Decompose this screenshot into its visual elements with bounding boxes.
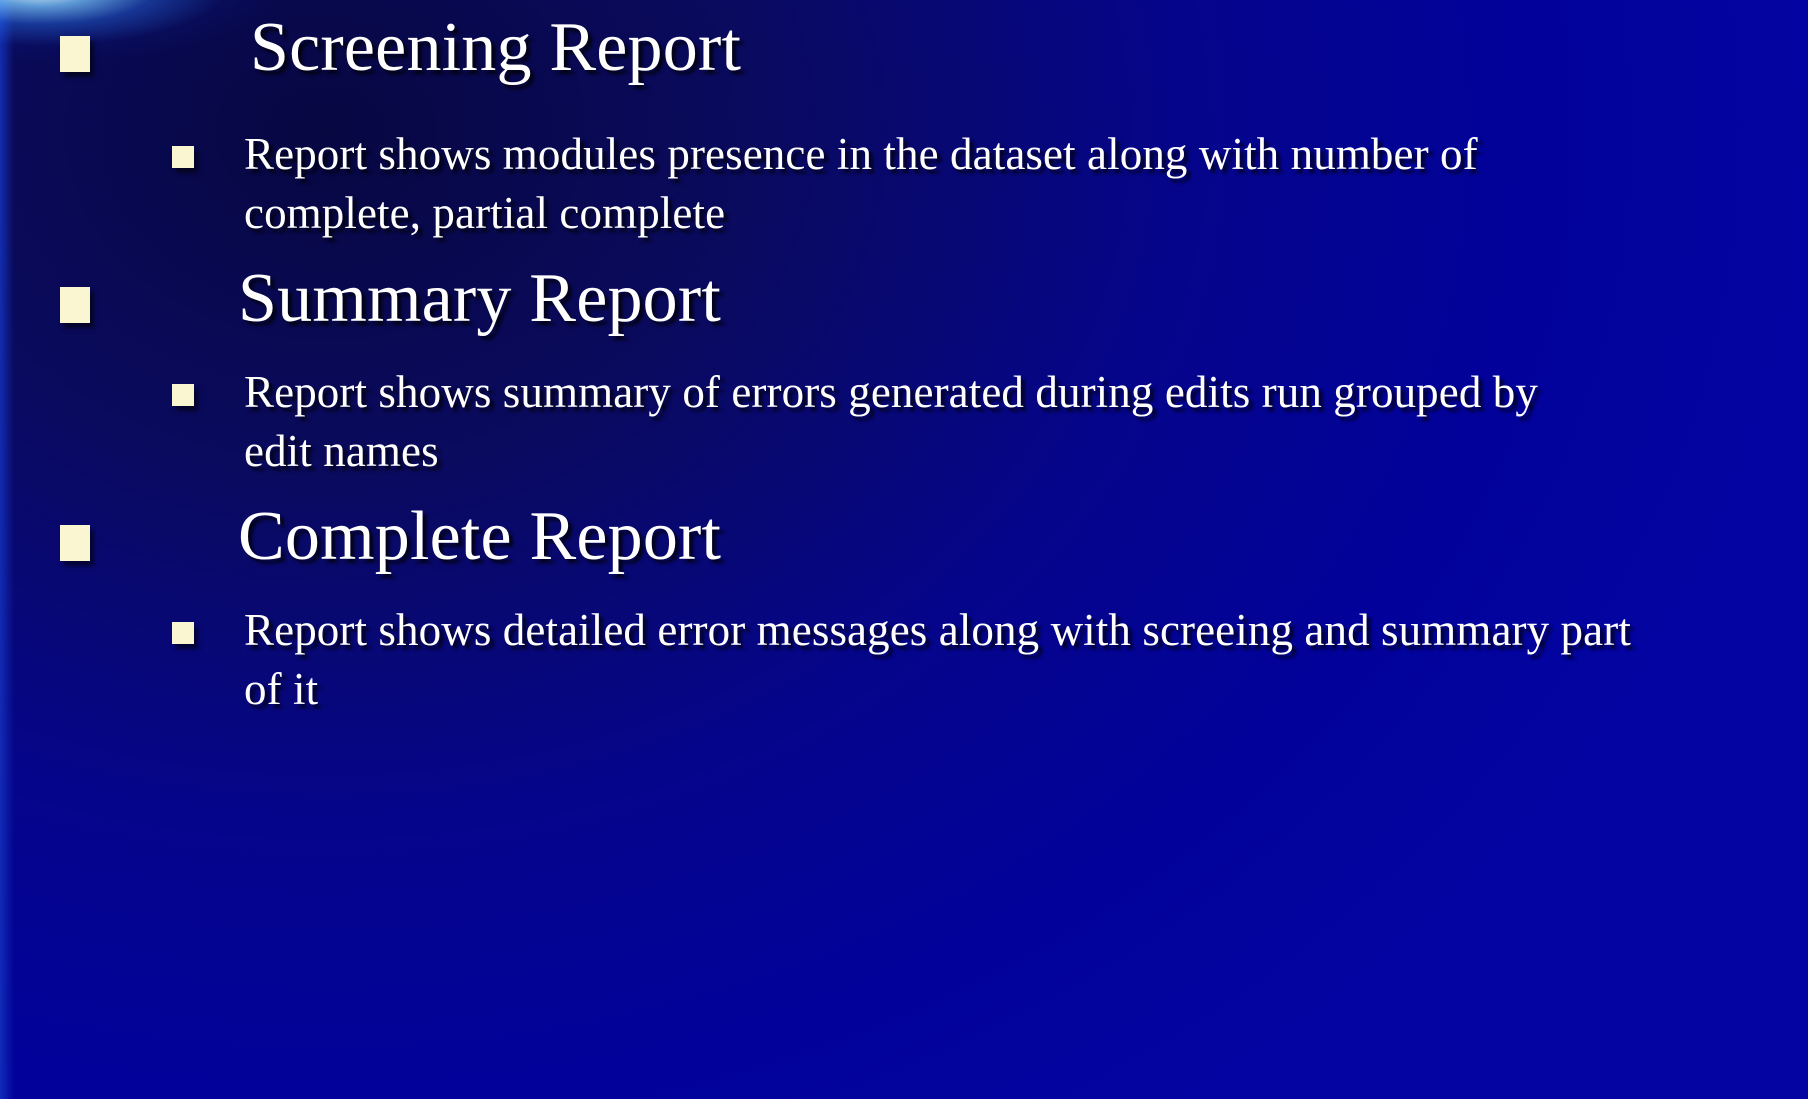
complete-report-heading: Complete Report	[238, 501, 721, 574]
complete-report-description-text: Report shows detailed error messages alo…	[244, 601, 1632, 718]
screening-report-description-text: Report shows modules presence in the dat…	[244, 125, 1592, 242]
bullet-row-complete-report-description: Report shows detailed error messages alo…	[172, 601, 1632, 718]
bullet-row-screening-report: Screening Report	[60, 12, 741, 85]
bullet-square-icon	[172, 146, 194, 168]
bullet-row-summary-report-description: Report shows summary of errors generated…	[172, 363, 1612, 480]
bullet-square-icon	[60, 287, 90, 323]
bullet-square-icon	[60, 525, 90, 561]
bullet-square-icon	[172, 384, 194, 406]
bullet-square-icon	[172, 622, 194, 644]
bullet-row-complete-report: Complete Report	[60, 501, 721, 574]
screening-report-heading: Screening Report	[250, 12, 741, 85]
bullet-row-screening-report-description: Report shows modules presence in the dat…	[172, 125, 1592, 242]
presentation-slide: Screening Report Report shows modules pr…	[0, 0, 1808, 1099]
slide-content-body: Screening Report Report shows modules pr…	[0, 0, 1808, 1099]
bullet-square-icon	[60, 36, 90, 72]
bullet-row-summary-report: Summary Report	[60, 263, 721, 336]
summary-report-description-text: Report shows summary of errors generated…	[244, 363, 1612, 480]
summary-report-heading: Summary Report	[238, 263, 721, 336]
